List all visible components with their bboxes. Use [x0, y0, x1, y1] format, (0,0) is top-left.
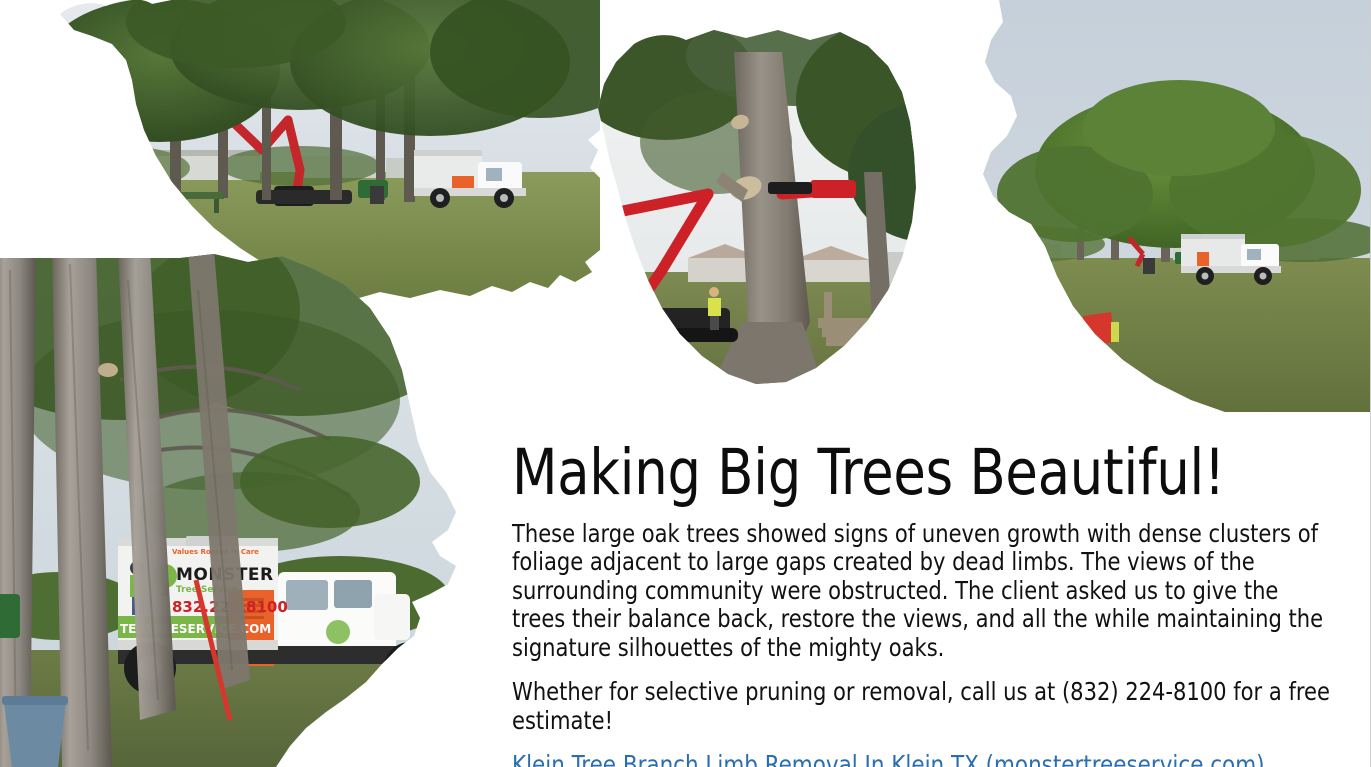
photo-bottom-left: MONSTER Tree Service 832.224.8100 TERTRE…: [0, 250, 500, 767]
photo-right: [965, 0, 1371, 412]
text-column: Making Big Trees Beautiful! These large …: [512, 440, 1332, 767]
source-article-link[interactable]: Klein Tree Branch Limb Removal In Klein …: [512, 751, 1265, 767]
page-title: Making Big Trees Beautiful!: [512, 440, 1275, 506]
body-paragraph-2: Whether for selective pruning or removal…: [512, 678, 1333, 735]
marketing-collage-page: MONSTER Tree Service 832.224.8100 TERTRE…: [0, 0, 1371, 767]
body-paragraph-1: These large oak trees showed signs of un…: [512, 520, 1333, 663]
photo-center: [596, 22, 996, 432]
